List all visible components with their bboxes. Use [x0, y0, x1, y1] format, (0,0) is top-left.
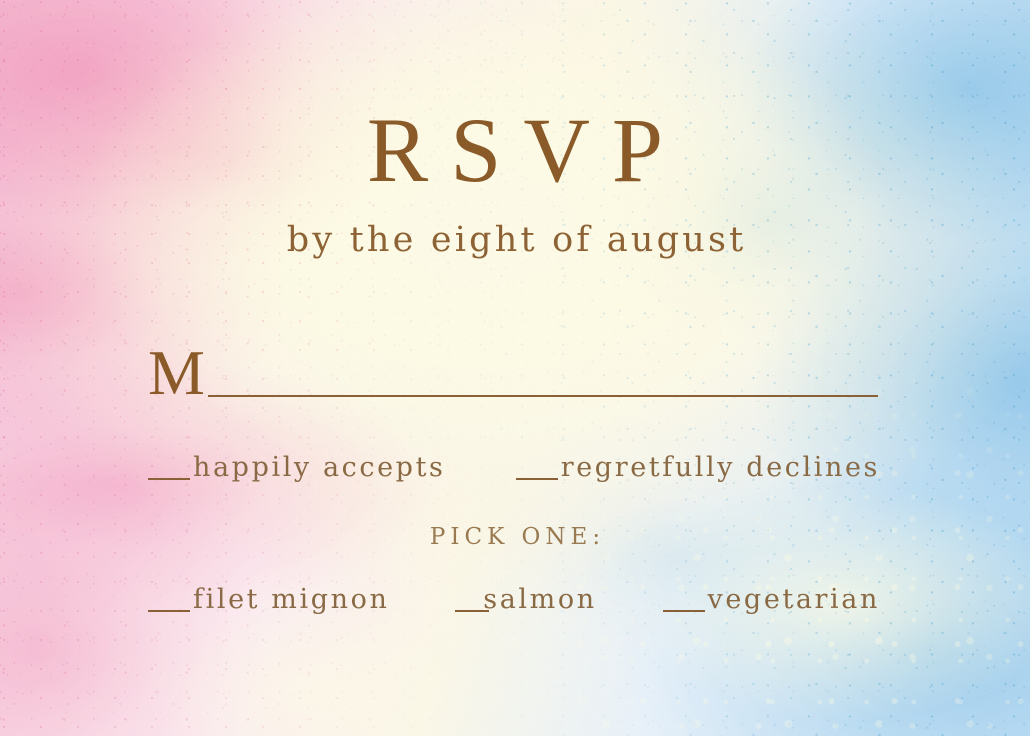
- reply-option-regretfully-declines[interactable]: regretfully declines: [516, 452, 880, 483]
- name-prefix-m: M: [148, 344, 206, 403]
- meal-option-label-vegetarian: vegetarian: [708, 584, 880, 615]
- rsvp-card: RSVP by the eight of august M happily ac…: [0, 0, 1030, 736]
- rsvp-deadline-subtitle: by the eight of august: [0, 223, 1030, 258]
- page-title: RSVP: [0, 104, 1030, 196]
- guest-name-write-line[interactable]: [208, 395, 878, 397]
- reply-option-label-happily-accepts: happily accepts: [193, 452, 445, 483]
- checkbox-blank-filet-mignon[interactable]: [148, 610, 190, 612]
- meal-option-label-filet-mignon: filet mignon: [193, 584, 389, 615]
- reply-options-row: happily accepts regretfully declines: [148, 452, 880, 483]
- meal-option-label-salmon: salmon: [483, 584, 596, 615]
- card-content: RSVP by the eight of august M happily ac…: [0, 0, 1030, 736]
- pick-one-instruction: PICK ONE:: [0, 524, 1030, 550]
- meal-option-salmon[interactable]: salmon: [455, 584, 596, 615]
- checkbox-blank-happily-accepts[interactable]: [148, 478, 190, 480]
- meal-option-filet-mignon[interactable]: filet mignon: [148, 584, 389, 615]
- reply-option-label-regretfully-declines: regretfully declines: [561, 452, 880, 483]
- meal-option-vegetarian[interactable]: vegetarian: [663, 584, 880, 615]
- guest-name-field[interactable]: M: [148, 344, 878, 403]
- checkbox-blank-vegetarian[interactable]: [663, 610, 705, 612]
- meal-options-row: filet mignon salmon vegetarian: [148, 584, 880, 615]
- reply-option-happily-accepts[interactable]: happily accepts: [148, 452, 445, 483]
- checkbox-blank-regretfully-declines[interactable]: [516, 478, 558, 480]
